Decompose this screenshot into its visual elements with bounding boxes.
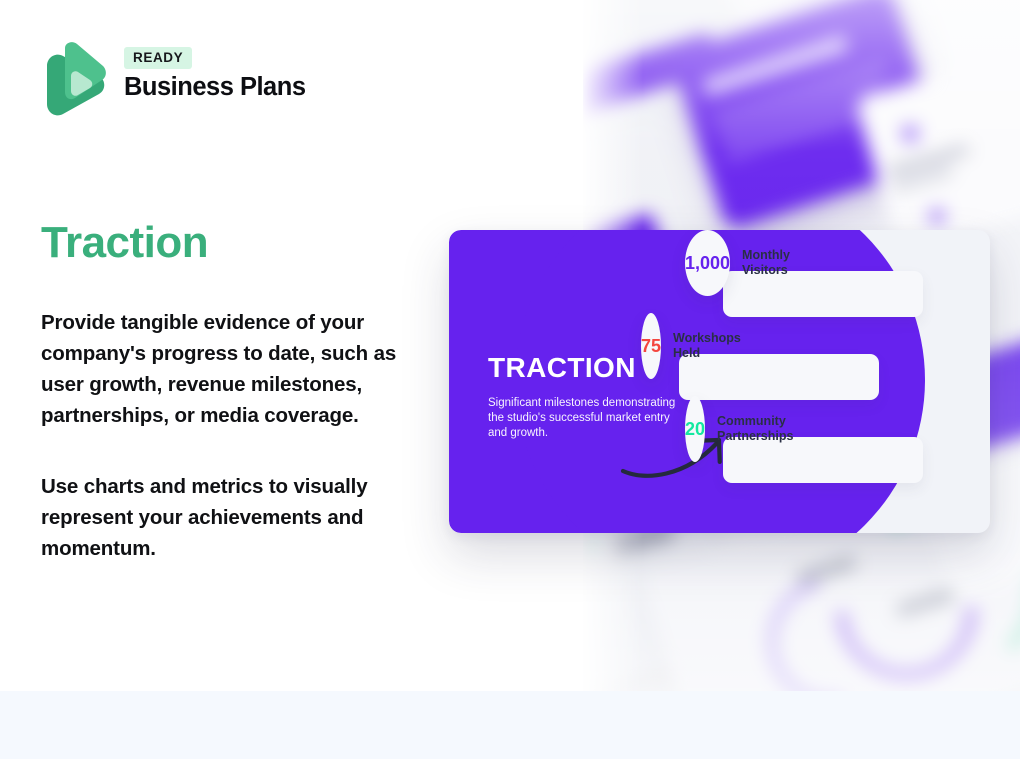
metric-value: 75: [641, 337, 661, 355]
metric-circle: 1,000: [685, 230, 730, 296]
metric-value: 1,000: [685, 254, 730, 272]
slide-title: TRACTION: [488, 354, 636, 382]
description-paragraph-2: Use charts and metrics to visually repre…: [41, 471, 426, 564]
bottom-strip: [0, 759, 1020, 765]
brand-text: READY Business Plans: [124, 40, 306, 101]
metric-value: 20: [685, 420, 705, 438]
description-paragraph-1: Provide tangible evidence of your compan…: [41, 307, 426, 431]
bottom-band: [0, 691, 1020, 759]
metrics-list: 1,000 Monthly Visitors 75 Workshops Held: [685, 230, 990, 533]
metric-label: Monthly Visitors: [742, 248, 790, 278]
brand-name: Business Plans: [124, 73, 306, 101]
brand-header: READY Business Plans: [41, 40, 306, 116]
metric-label: Community Partnerships: [717, 414, 793, 444]
metric-circle: 75: [641, 313, 661, 379]
ready-badge: READY: [124, 47, 192, 69]
metric-label: Workshops Held: [673, 331, 741, 361]
slide-preview-page: READY Business Plans Traction Provide ta…: [0, 0, 1020, 765]
traction-slide-card[interactable]: TRACTION Significant milestones demonstr…: [449, 230, 990, 533]
metric-circle: 20: [685, 396, 705, 462]
play-triangle-logo-icon: [41, 40, 107, 116]
page-title: Traction: [41, 221, 208, 265]
